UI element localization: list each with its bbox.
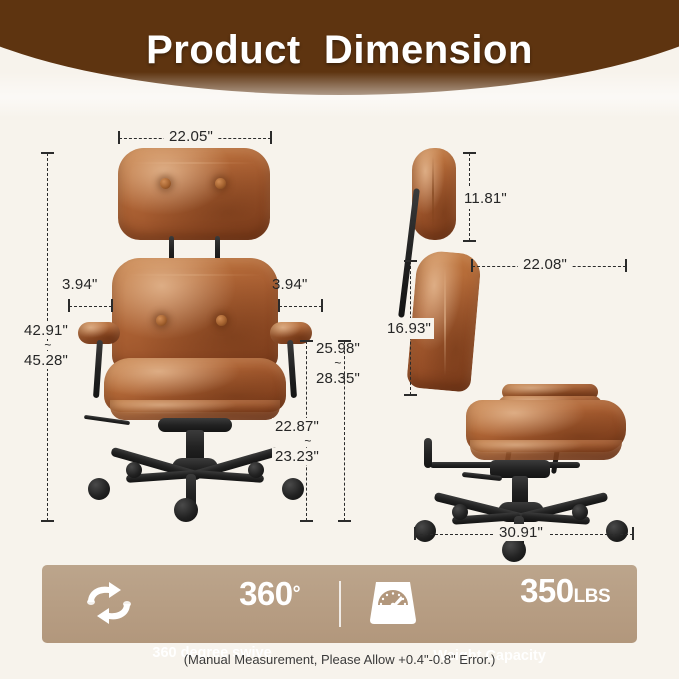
dim-base-width-label: 30.91" (494, 524, 548, 541)
side-backrest-seam (444, 268, 446, 376)
dim-seat-height-label-max: 23.23" (272, 448, 322, 465)
dim-overall-height-label-min: 42.91" (21, 322, 71, 339)
dim-armrest-left-label: 3.94" (62, 276, 98, 293)
feature-weight: 350LBS Weight Capacity (341, 543, 638, 665)
front-caster-4 (126, 462, 142, 478)
weight-scale-icon (367, 578, 419, 631)
side-caster-4 (452, 504, 468, 520)
front-backrest-tuft-left (156, 315, 167, 326)
front-headrest-seam (132, 162, 256, 164)
feature-swivel: 360° 360 degree swive (42, 546, 339, 662)
front-headrest-tuft-right (215, 178, 226, 189)
feature-bar: 360° 360 degree swive (42, 565, 637, 643)
diagram-stage: 22.05" 3.94" 3.94" 42.91" ~ 45.28" 25.98… (0, 100, 679, 555)
front-backrest-seam (126, 274, 264, 276)
feature-weight-text: 350LBS Weight Capacity (433, 543, 610, 665)
dim-back-height-label-max: 28.35" (316, 370, 360, 387)
feature-swivel-unit: ° (293, 583, 301, 605)
side-caster-3 (606, 520, 628, 542)
feature-swivel-text: 360° 360 degree swive (152, 546, 300, 662)
product-dimension-infographic: Product Dimension (0, 0, 679, 679)
front-caster-5 (248, 462, 264, 478)
dim-overall-height-tilde: ~ (40, 341, 56, 350)
disclaimer-text: (Manual Measurement, Please Allow +0.4"-… (0, 652, 679, 667)
dim-seat-height-line (344, 341, 345, 521)
side-back-lower-arm (424, 438, 432, 468)
dim-overall-depth-label: 22.08" (518, 256, 572, 273)
dim-armrest-right-label: 3.94" (272, 276, 308, 293)
front-headrest-tuft-left (160, 178, 171, 189)
side-headrest-seam (432, 156, 434, 230)
front-caster-2 (174, 498, 198, 522)
side-seat-base (470, 440, 622, 460)
dim-seat-height-tilde: ~ (300, 437, 316, 446)
side-caster-1 (414, 520, 436, 542)
dim-overall-height-label-max: 45.28" (21, 352, 71, 369)
dim-seat-height-label-min: 22.87" (272, 418, 322, 435)
front-seat-base (110, 400, 280, 420)
rotate-arrows-icon (80, 580, 138, 629)
dim-back-height-label-min: 25.98" (316, 340, 360, 357)
feature-weight-unit: LBS (574, 586, 611, 607)
front-caster-3 (282, 478, 304, 500)
feature-swivel-value: 360 (239, 575, 293, 612)
dim-backrest-height-label: 16.93" (384, 318, 434, 339)
front-caster-1 (88, 478, 110, 500)
front-armrest-left-support (93, 340, 103, 398)
feature-weight-value: 350 (520, 572, 574, 609)
front-backrest-tuft-right (216, 315, 227, 326)
dim-backrest-width-label: 22.05" (164, 128, 218, 145)
front-armrest-right-support (287, 340, 297, 398)
side-caster-5 (572, 504, 588, 520)
dim-armrest-left-line (69, 306, 112, 307)
dim-armrest-right-line (279, 306, 322, 307)
page-title: Product Dimension (0, 0, 679, 100)
dim-headrest-height-label: 11.81" (460, 188, 511, 209)
